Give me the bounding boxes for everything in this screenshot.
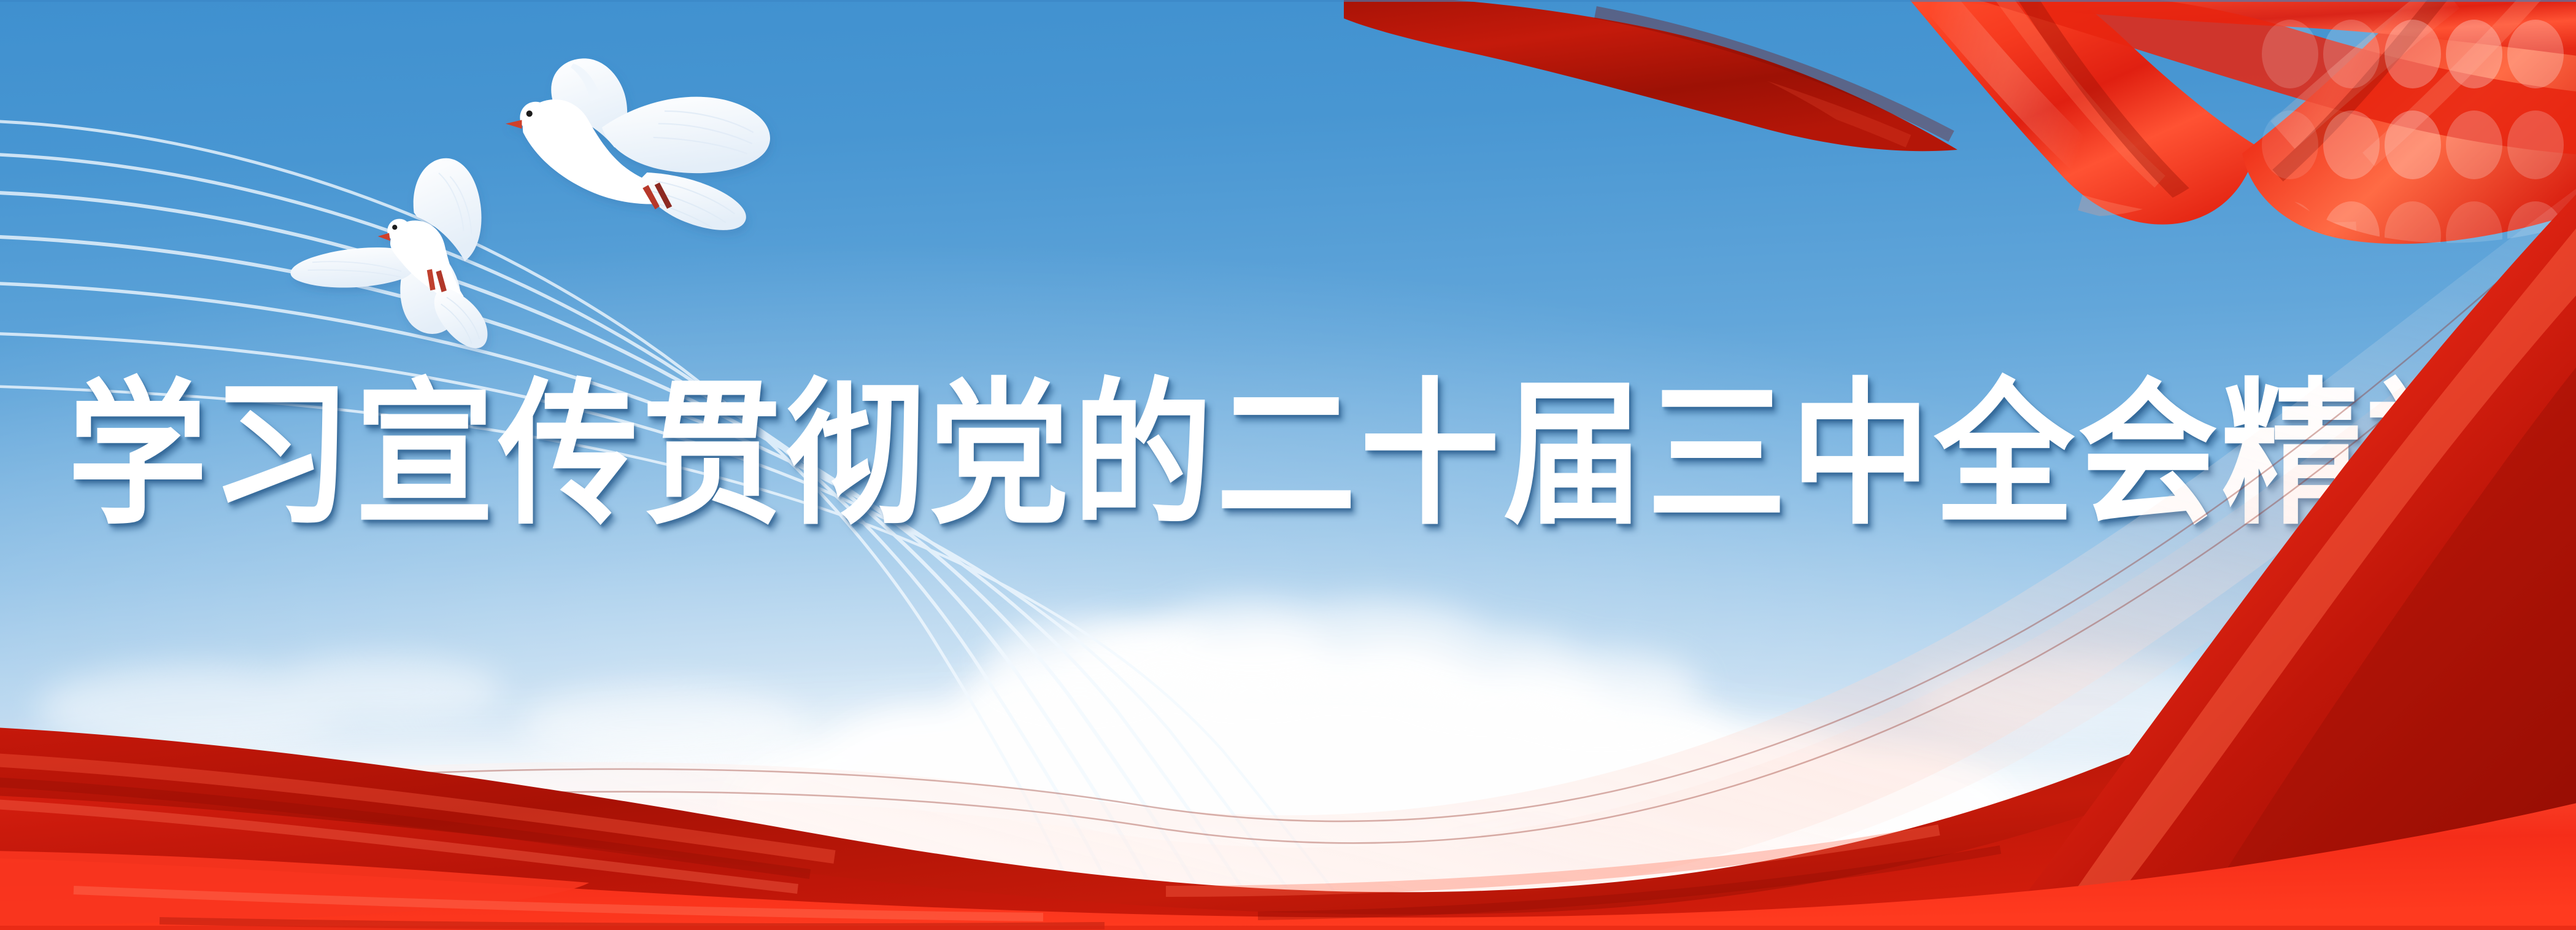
red-silk-wave-bottom	[0, 0, 2576, 930]
top-edge-accent	[0, 0, 2576, 2]
banner-root: 学习宣传贯彻党的二十届三中全会精神	[0, 0, 2576, 930]
